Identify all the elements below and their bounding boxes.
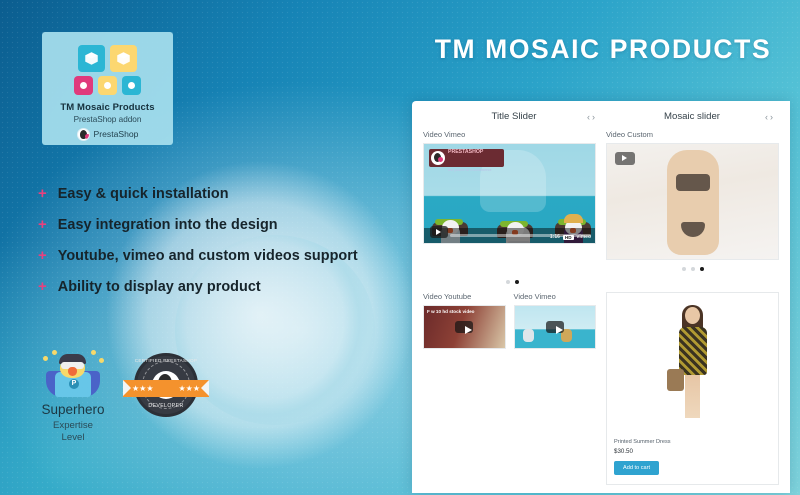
add-to-cart-button[interactable]: Add to cart bbox=[614, 461, 659, 475]
certified-developer-badge: CERTIFIED PRESTASHOP DEVELOPER ★★★ ★★★ bbox=[123, 351, 209, 431]
hat-shape bbox=[564, 214, 583, 223]
feature-label: Easy integration into the design bbox=[58, 217, 278, 233]
video-vimeo-mid-tile: Video Vimeo bbox=[514, 292, 597, 485]
panel-mid-row: Video Youtube F w 10 hd stock video Vide… bbox=[423, 292, 779, 485]
hd-badge: HD bbox=[563, 235, 574, 240]
left-slider-pagination[interactable] bbox=[423, 280, 601, 284]
video-thumbnail[interactable]: F w 10 hd stock video bbox=[423, 305, 506, 349]
vimeo-provider-label: vimeo bbox=[577, 234, 591, 240]
cube-icon bbox=[78, 45, 105, 72]
pagination-dot[interactable] bbox=[691, 267, 695, 271]
brand-line-1: PRESTASHOP bbox=[448, 149, 483, 155]
prestashop-logo-icon bbox=[77, 128, 90, 141]
video-meta: 1:16 HD vimeo bbox=[550, 234, 591, 240]
tile-label: Video Youtube bbox=[423, 292, 506, 301]
stars-left: ★★★ bbox=[132, 383, 154, 394]
superhero-icon: P bbox=[42, 352, 104, 398]
plus-icon: + bbox=[38, 217, 47, 232]
product-name: Printed Summer Dress bbox=[614, 439, 771, 445]
emblem-label: P bbox=[69, 379, 79, 389]
legs-shape bbox=[685, 373, 700, 418]
addon-logo bbox=[42, 45, 173, 95]
right-slider-header: Mosaic slider ‹› bbox=[601, 111, 779, 122]
dot-icon-glyph bbox=[104, 82, 111, 89]
vimeo-brand-tag: PRESTASHOP the power of e-commerce bbox=[429, 149, 504, 167]
sparkle-icon bbox=[43, 356, 48, 361]
feature-list: + Easy & quick installation + Easy integ… bbox=[38, 186, 388, 310]
sparkle-icon bbox=[99, 358, 104, 363]
superhero-caption-line1: Expertise bbox=[53, 420, 93, 431]
superhero-caption: Expertise Level bbox=[31, 420, 115, 444]
plus-icon: + bbox=[38, 279, 47, 294]
badge-bottom-text: DEVELOPER bbox=[134, 403, 198, 409]
prestashop-label: PrestaShop bbox=[94, 129, 139, 139]
panel-header: Title Slider ‹› Mosaic slider ‹› bbox=[423, 111, 779, 122]
dot-icon-glyph bbox=[128, 82, 135, 89]
model-figure bbox=[668, 307, 718, 427]
beak-shape bbox=[68, 367, 77, 376]
sparkle-icon bbox=[91, 350, 96, 355]
tile-label: Video Vimeo bbox=[423, 130, 596, 139]
product-card-column: Printed Summer Dress $30.50 Add to cart bbox=[606, 292, 779, 485]
brand-line-2: the power of e-commerce bbox=[448, 168, 492, 172]
dot-icon bbox=[122, 76, 141, 95]
vimeo-scene: PRESTASHOP the power of e-commerce 1:16 … bbox=[424, 144, 595, 243]
left-slider-title: Title Slider bbox=[423, 111, 587, 122]
addon-card: TM Mosaic Products PrestaShop addon Pres… bbox=[42, 32, 173, 145]
page-title: TM MOSAIC PRODUCTS bbox=[418, 34, 788, 65]
badge-ribbon: ★★★ ★★★ bbox=[123, 380, 209, 397]
addon-subtitle: PrestaShop addon bbox=[42, 115, 173, 124]
left-slider-nav[interactable]: ‹› bbox=[587, 112, 601, 122]
dress-shape bbox=[679, 327, 707, 375]
dot-icon-glyph bbox=[80, 82, 87, 89]
stars-right: ★★★ bbox=[178, 383, 200, 394]
pagination-dot[interactable] bbox=[682, 267, 686, 271]
model-figure bbox=[667, 150, 719, 255]
video-thumbnail[interactable]: PRESTASHOP the power of e-commerce 1:16 … bbox=[423, 143, 596, 244]
prestashop-line: PrestaShop bbox=[42, 128, 173, 141]
tile-label: Video Vimeo bbox=[514, 292, 597, 301]
right-slider-title: Mosaic slider bbox=[601, 111, 765, 122]
superhero-caption-line2: Level bbox=[62, 432, 85, 443]
slider-pagination[interactable] bbox=[606, 267, 779, 271]
addon-title: TM Mosaic Products bbox=[42, 102, 173, 113]
vimeo-brand-text: PRESTASHOP the power of e-commerce bbox=[448, 143, 492, 176]
superhero-block: P Superhero Expertise Level bbox=[31, 352, 115, 444]
video-thumbnail[interactable] bbox=[514, 305, 597, 349]
dot-icon bbox=[98, 76, 117, 95]
head-shape bbox=[685, 307, 700, 324]
feature-item: + Ability to display any product bbox=[38, 279, 388, 310]
right-slider-nav[interactable]: ‹› bbox=[765, 112, 779, 122]
play-icon[interactable] bbox=[455, 321, 473, 333]
feature-item: + Youtube, vimeo and custom videos suppo… bbox=[38, 248, 388, 279]
youtube-overlay-text: F w 10 hd stock video bbox=[427, 309, 474, 314]
pagination-dot-active[interactable] bbox=[515, 280, 519, 284]
logo-tile-row-bottom bbox=[74, 76, 141, 95]
cube-icon bbox=[110, 45, 137, 72]
video-thumbnail[interactable] bbox=[606, 143, 779, 260]
prestashop-logo-icon bbox=[431, 151, 445, 165]
plus-icon: + bbox=[38, 248, 47, 263]
product-card[interactable]: Printed Summer Dress $30.50 Add to cart bbox=[606, 292, 779, 485]
cube-icon-glyph bbox=[84, 51, 99, 66]
screenshot-panel: Title Slider ‹› Mosaic slider ‹› Video V… bbox=[412, 101, 790, 493]
video-youtube-tile: Video Youtube F w 10 hd stock video bbox=[423, 292, 506, 485]
character bbox=[523, 329, 534, 342]
panel-top-row: Video Vimeo bbox=[423, 130, 779, 271]
feature-label: Youtube, vimeo and custom videos support bbox=[58, 248, 358, 264]
feature-item: + Easy integration into the design bbox=[38, 217, 388, 248]
sparkle-icon bbox=[52, 350, 57, 355]
feature-label: Easy & quick installation bbox=[58, 186, 229, 202]
logo-tile-row-top bbox=[78, 45, 137, 72]
pagination-dot[interactable] bbox=[506, 280, 510, 284]
left-slider-header: Title Slider ‹› bbox=[423, 111, 601, 122]
video-custom-tile: Video Custom bbox=[606, 130, 779, 271]
plus-icon: + bbox=[38, 186, 47, 201]
chevron-right-icon[interactable]: › bbox=[770, 112, 775, 122]
garment-shape bbox=[676, 174, 710, 191]
superhero-name: Superhero bbox=[31, 402, 115, 417]
duration-label: 1:16 bbox=[550, 234, 560, 240]
dot-icon bbox=[74, 76, 93, 95]
product-image bbox=[614, 301, 771, 433]
play-icon[interactable] bbox=[615, 152, 635, 165]
video-vimeo-tile: Video Vimeo bbox=[423, 130, 596, 271]
play-icon[interactable] bbox=[430, 226, 448, 238]
video-controls-bar[interactable]: 1:16 HD vimeo bbox=[424, 228, 595, 243]
chevron-right-icon[interactable]: › bbox=[592, 112, 597, 122]
feature-label: Ability to display any product bbox=[58, 279, 261, 295]
pagination-dot-active[interactable] bbox=[700, 267, 704, 271]
handbag-shape bbox=[667, 369, 684, 391]
mid-left-tiles: Video Youtube F w 10 hd stock video Vide… bbox=[423, 292, 596, 485]
cube-icon-glyph bbox=[116, 51, 131, 66]
product-price: $30.50 bbox=[614, 448, 771, 455]
tile-label: Video Custom bbox=[606, 130, 779, 139]
play-icon[interactable] bbox=[546, 321, 564, 333]
badge-top-text: CERTIFIED PRESTASHOP bbox=[134, 358, 198, 363]
feature-item: + Easy & quick installation bbox=[38, 186, 388, 217]
